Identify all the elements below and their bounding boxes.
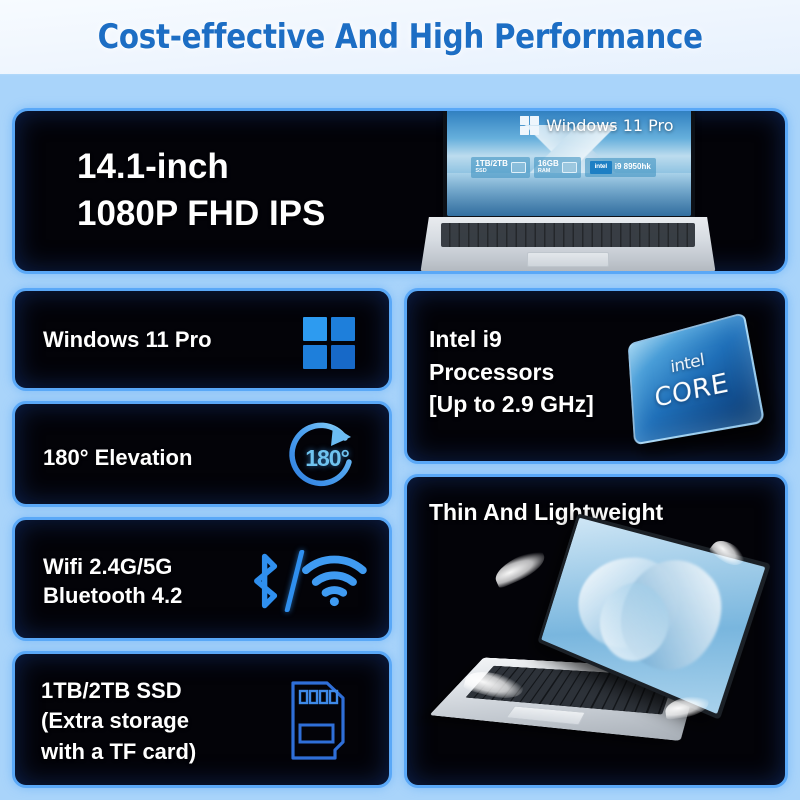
spec-badge-storage: 1TB/2TB SSD — [471, 157, 529, 177]
tilted-laptop-trackpad — [506, 706, 586, 725]
laptop-keyboard — [441, 223, 696, 247]
windows-feature-card: Windows 11 Pro — [12, 288, 392, 391]
tilted-laptop-image — [435, 529, 765, 767]
tf-card-icon — [287, 680, 349, 764]
screen-os-row: Windows 11 Pro — [520, 116, 673, 135]
windows-logo-icon — [303, 317, 355, 369]
chip-face: intel CORE — [628, 312, 766, 445]
laptop-trackpad — [527, 252, 610, 267]
spec-ram-sub: RAM — [538, 169, 559, 175]
intel-core-chip-icon: intel CORE — [615, 313, 769, 445]
processor-card-label: Intel i9 Processors [Up to 2.9 GHz] — [429, 323, 594, 421]
processor-feature-card: Intel i9 Processors [Up to 2.9 GHz] inte… — [404, 288, 788, 464]
hero-card-display: 14.1-inch 1080P FHD IPS 14.1" 1080P FULL… — [12, 108, 788, 274]
hero-label: 14.1-inch 1080P FHD IPS — [77, 143, 325, 238]
thin-feature-card: Thin And Lightweight — [404, 474, 788, 788]
thin-card-label: Thin And Lightweight — [429, 499, 663, 526]
page-title: Cost-effective And High Performance — [97, 17, 702, 57]
elevation-card-label: 180° Elevation — [43, 445, 192, 471]
laptop-screen: 14.1" 1080P FULL HD Windows 11 Pro 1TB/2… — [447, 108, 691, 216]
elevation-feature-card: 180° Elevation 180° — [12, 401, 392, 507]
bluetooth-icon — [245, 550, 284, 612]
spec-badge-cpu: intel i9 8950hk — [585, 158, 656, 177]
wireless-icon-group — [245, 548, 367, 614]
screen-spec-badges: 1TB/2TB SSD 16GB RAM — [471, 157, 671, 177]
elevation-icon-text: 180° — [281, 418, 361, 498]
spec-badge-ram: 16GB RAM — [534, 157, 581, 177]
storage-card-label: 1TB/2TB SSD (Extra storage with a TF car… — [41, 676, 196, 767]
wireless-card-label: Wifi 2.4G/5G Bluetooth 4.2 — [43, 552, 182, 610]
header-banner: Cost-effective And High Performance — [0, 0, 800, 74]
laptop-lid: 14.1" 1080P FULL HD Windows 11 Pro 1TB/2… — [443, 108, 695, 219]
infographic-page: Cost-effective And High Performance 14.1… — [0, 0, 800, 800]
feather-icon — [491, 547, 549, 589]
spec-storage-sub: SSD — [475, 169, 507, 175]
laptop-base — [420, 217, 716, 274]
spec-cpu-model: i9 8950hk — [615, 163, 651, 171]
windows-card-label: Windows 11 Pro — [43, 327, 212, 353]
storage-feature-card: 1TB/2TB SSD (Extra storage with a TF car… — [12, 651, 392, 788]
hero-laptop-image: 14.1" 1080P FULL HD Windows 11 Pro 1TB/2… — [420, 108, 716, 274]
ram-icon — [562, 162, 577, 173]
wifi-icon — [302, 555, 367, 607]
intel-logo-icon: intel — [590, 161, 612, 174]
wireless-feature-card: Wifi 2.4G/5G Bluetooth 4.2 — [12, 517, 392, 641]
chip-core-text: CORE — [654, 367, 731, 413]
windows-logo-icon — [520, 116, 539, 135]
screen-os-text: Windows 11 Pro — [546, 116, 673, 135]
rotation-arrow-icon: 180° — [281, 418, 361, 498]
ssd-icon — [511, 162, 526, 173]
